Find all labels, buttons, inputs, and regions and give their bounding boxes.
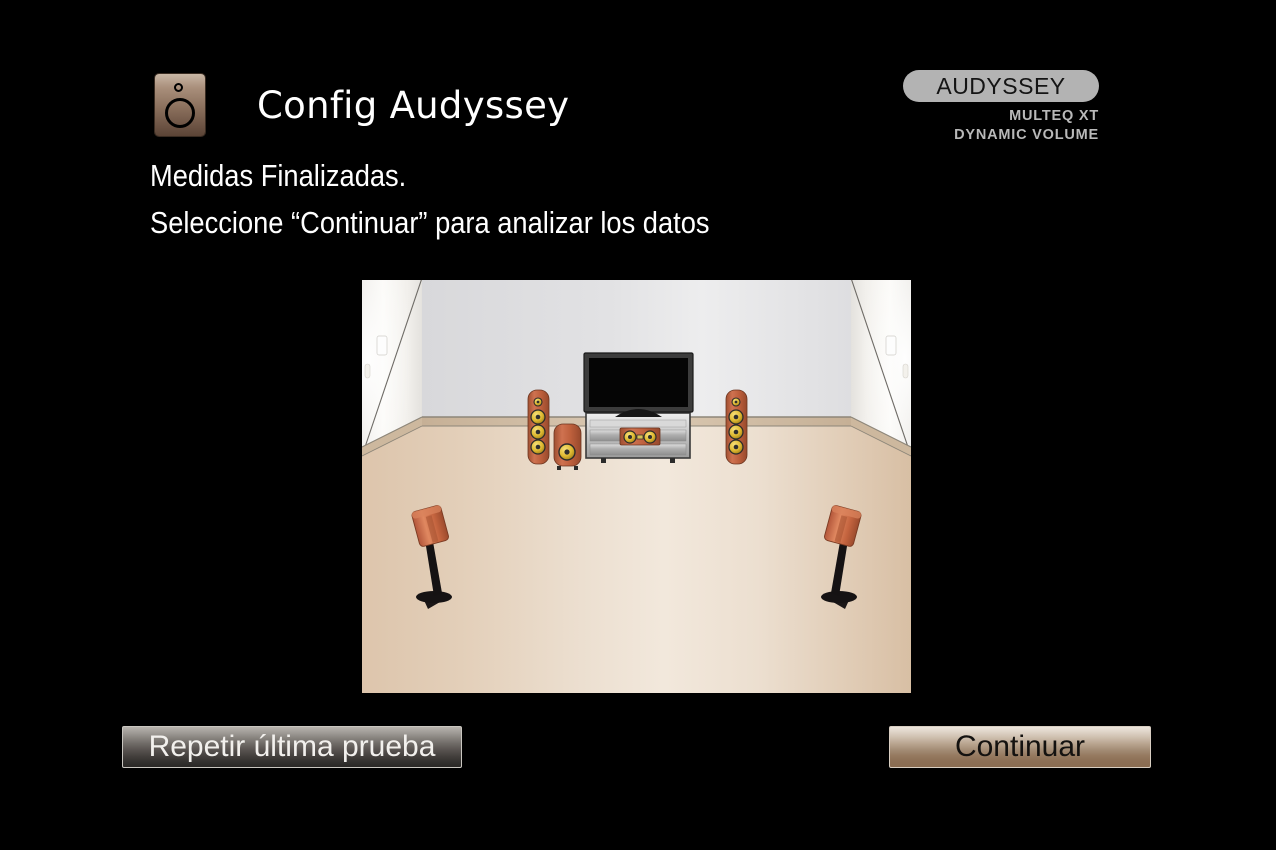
- page-title: Config Audyssey: [257, 84, 569, 127]
- av-rack-foot-left: [601, 458, 606, 463]
- center-tweeter: [637, 435, 643, 439]
- room-diagram: [362, 280, 911, 693]
- room-illustration: [362, 280, 911, 693]
- subwoofer: [554, 424, 581, 470]
- audyssey-subtitle-multeq: MULTEQ XT: [1009, 108, 1099, 124]
- front-left-speaker: [528, 390, 549, 464]
- message-line-2: Seleccione “Continuar” para analizar los…: [150, 205, 710, 241]
- audyssey-wordmark: AUDYSSEY: [903, 70, 1099, 102]
- floor: [362, 426, 911, 693]
- audyssey-subtitle-dynamic-volume: DYNAMIC VOLUME: [954, 127, 1099, 143]
- front-right-speaker: [726, 390, 747, 464]
- center-speaker: [620, 428, 660, 445]
- av-rack-foot-right: [670, 458, 675, 463]
- speaker-tweeter-icon: [174, 83, 183, 92]
- television: [584, 353, 693, 417]
- speaker-icon: [155, 74, 205, 136]
- speaker-woofer-icon: [165, 98, 195, 128]
- message-line-1: Medidas Finalizadas.: [150, 158, 406, 194]
- audyssey-logo: AUDYSSEY MULTEQ XT DYNAMIC VOLUME: [903, 70, 1101, 150]
- continue-button[interactable]: Continuar: [889, 726, 1151, 768]
- header-bar: Config Audyssey AUDYSSEY MULTEQ XT DYNAM…: [0, 0, 1276, 150]
- repeat-last-test-button[interactable]: Repetir última prueba: [122, 726, 462, 768]
